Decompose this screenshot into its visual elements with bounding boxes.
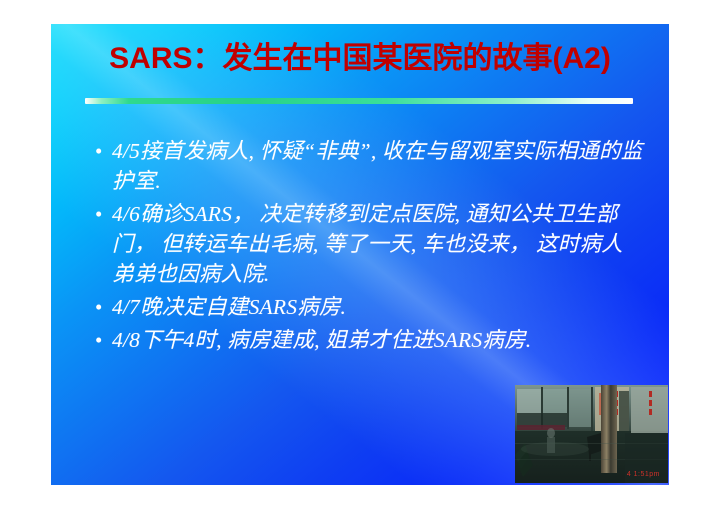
bullet-list: • 4/5接首发病人, 怀疑“非典”, 收在与留观室实际相通的监护室. • 4/… — [95, 136, 643, 358]
hospital-lobby-image — [515, 385, 668, 483]
list-item-text: 4/5接首发病人, 怀疑“非典”, 收在与留观室实际相通的监护室. — [112, 136, 643, 196]
bullet-point-icon: • — [95, 199, 112, 229]
slide-canvas: SARS：发生在中国某医院的故事(A2) • 4/5接首发病人, 怀疑“非典”,… — [51, 24, 669, 485]
list-item-text: 4/8下午4时, 病房建成, 姐弟才住进SARS病房. — [112, 325, 643, 355]
list-item: • 4/6确诊SARS， 决定转移到定点医院, 通知公共卫生部门， 但转运车出毛… — [95, 199, 643, 289]
page-title: SARS：发生在中国某医院的故事(A2) — [51, 42, 669, 75]
title-block: SARS：发生在中国某医院的故事(A2) — [51, 42, 669, 75]
bullet-point-icon: • — [95, 136, 112, 166]
list-item-text: 4/6确诊SARS， 决定转移到定点医院, 通知公共卫生部门， 但转运车出毛病,… — [112, 199, 643, 289]
list-item: • 4/8下午4时, 病房建成, 姐弟才住进SARS病房. — [95, 325, 643, 355]
photo-timestamp: 4 1:51pm — [627, 471, 660, 478]
bullet-point-icon: • — [95, 292, 112, 322]
list-item: • 4/7晚决定自建SARS病房. — [95, 292, 643, 322]
bullet-point-icon: • — [95, 325, 112, 355]
list-item: • 4/5接首发病人, 怀疑“非典”, 收在与留观室实际相通的监护室. — [95, 136, 643, 196]
embedded-photo: 4 1:51pm — [515, 385, 668, 483]
list-item-text: 4/7晚决定自建SARS病房. — [112, 292, 643, 322]
title-underline-rule — [85, 98, 633, 104]
